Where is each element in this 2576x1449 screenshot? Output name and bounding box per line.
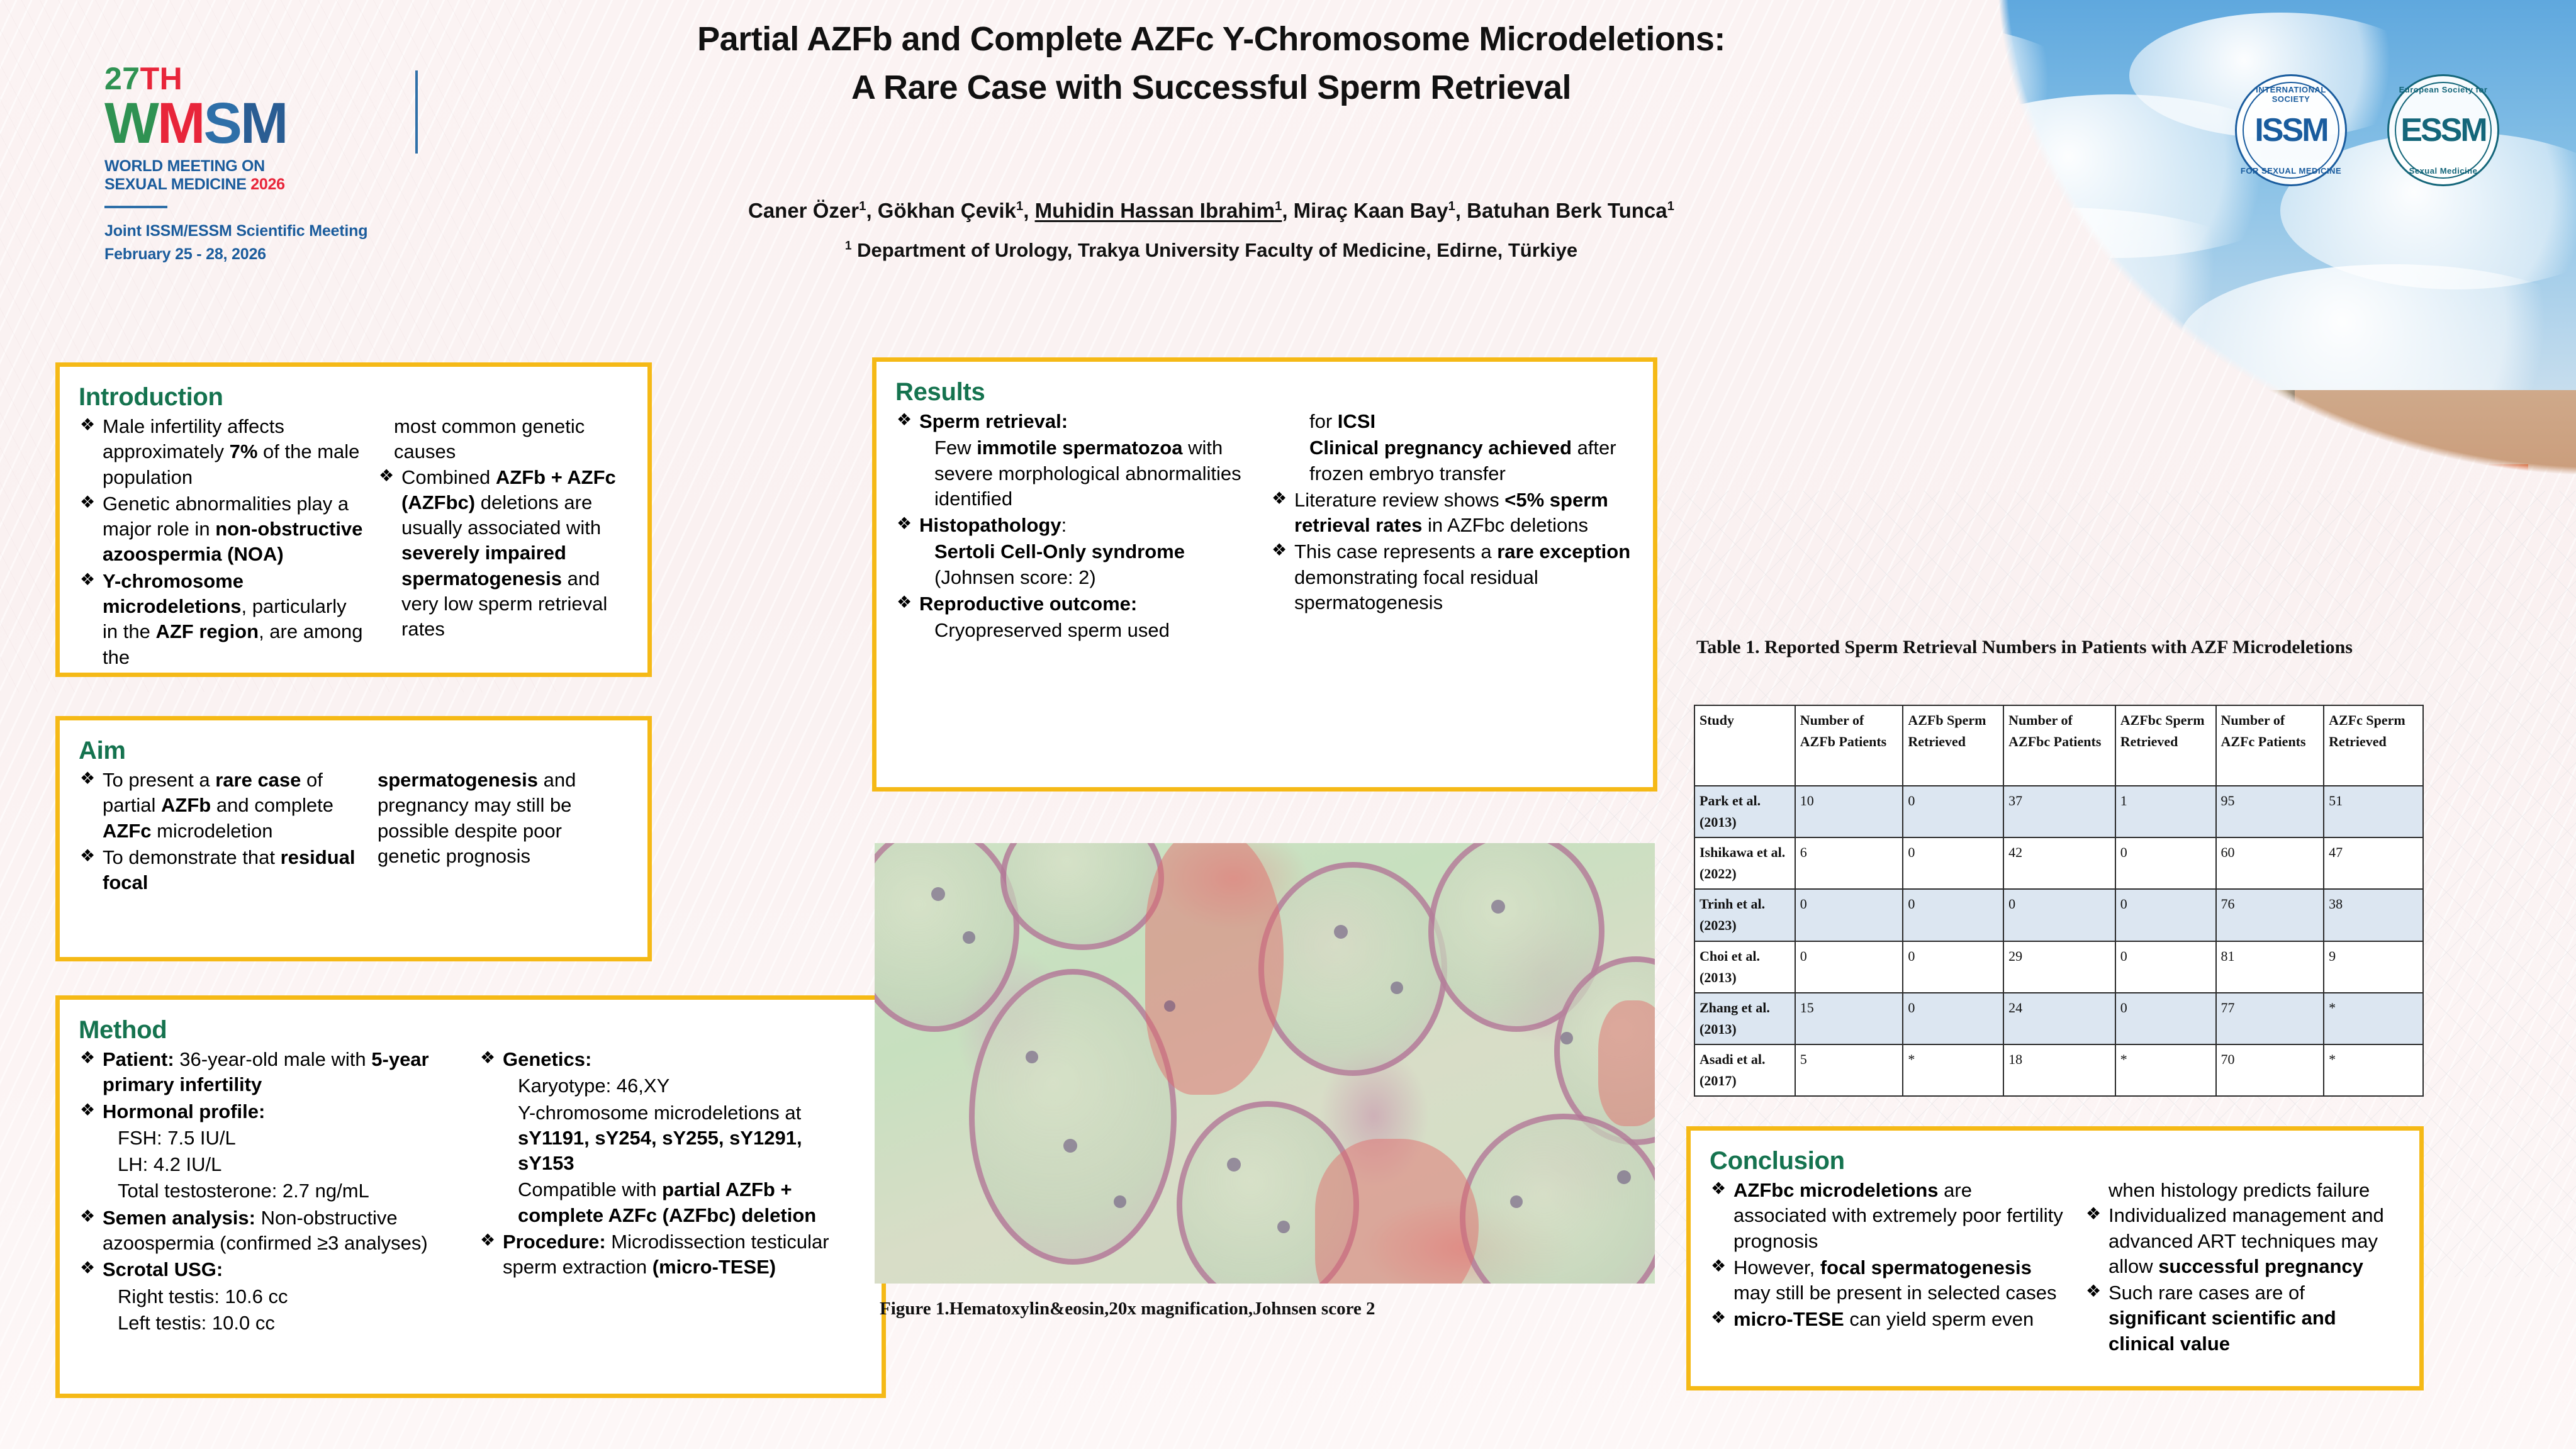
joint-meeting-label: Joint ISSM/ESSM Scientific Meeting bbox=[104, 220, 400, 242]
list-item: Semen analysis: Non-obstructive azoosper… bbox=[79, 1206, 462, 1256]
list-item: Combined AZFb + AZFc (AZFbc) deletions a… bbox=[378, 465, 629, 642]
logo-acronym: WMSM bbox=[104, 96, 400, 151]
results-left-column: Sperm retrieval:Few immotile spermatozoa… bbox=[895, 409, 1254, 645]
list-item: Genetics: bbox=[479, 1047, 863, 1072]
sperm-retrieval-table: StudyNumber of AZFb PatientsAZFb Sperm R… bbox=[1694, 705, 2424, 1097]
table-cell: 0 bbox=[1903, 993, 2003, 1044]
table-column-header: Number of AZFc Patients bbox=[2216, 705, 2324, 786]
method-right-list: Genetics:Karyotype: 46,XYY-chromosome mi… bbox=[479, 1047, 863, 1280]
table-row: Choi et al. (2013)00290819 bbox=[1694, 941, 2423, 993]
poster-title-line2: A Rare Case with Successful Sperm Retrie… bbox=[566, 64, 1856, 112]
table-cell: 76 bbox=[2216, 889, 2324, 941]
method-heading: Method bbox=[79, 1016, 863, 1044]
logo-subtitle: WORLD MEETING ON SEXUAL MEDICINE 2026 bbox=[104, 157, 400, 193]
table-column-header: Study bbox=[1694, 705, 1795, 786]
table-cell: Choi et al. (2013) bbox=[1694, 941, 1795, 993]
table-cell: Zhang et al. (2013) bbox=[1694, 993, 1795, 1044]
table-cell: Asadi et al. (2017) bbox=[1694, 1044, 1795, 1096]
table-cell: 70 bbox=[2216, 1044, 2324, 1096]
conclusion-left-column: AZFbc microdeletions are associated with… bbox=[1710, 1178, 2068, 1358]
introduction-section: Introduction Male infertility affects ap… bbox=[55, 362, 652, 677]
table-row: Zhang et al. (2013)15024077* bbox=[1694, 993, 2423, 1044]
table-cell: 0 bbox=[1903, 941, 2003, 993]
table-column-header: AZFb Sperm Retrieved bbox=[1903, 705, 2003, 786]
table-column-header: Number of AZFbc Patients bbox=[2003, 705, 2115, 786]
logo-meeting-info: Joint ISSM/ESSM Scientific Meeting Febru… bbox=[104, 220, 400, 266]
table-cell: * bbox=[2324, 993, 2423, 1044]
histology-figure bbox=[875, 843, 1655, 1284]
list-item: Compatible with partial AZFb + complete … bbox=[479, 1177, 863, 1228]
list-item: Individualized management and advanced A… bbox=[2085, 1203, 2400, 1279]
figure-caption: Figure 1.Hematoxylin&eosin,20x magnifica… bbox=[880, 1299, 1660, 1319]
table-cell: 6 bbox=[1795, 837, 1903, 889]
list-item: Cryopreserved sperm used bbox=[895, 618, 1254, 643]
essm-arc-bottom-text: Sexual Medicine bbox=[2389, 166, 2497, 176]
table-cell: 0 bbox=[1795, 889, 1903, 941]
introduction-right-list: Combined AZFb + AZFc (AZFbc) deletions a… bbox=[378, 465, 629, 642]
table-cell: 38 bbox=[2324, 889, 2423, 941]
aim-right-column: spermatogenesis and pregnancy may still … bbox=[378, 768, 629, 897]
table-cell: 77 bbox=[2216, 993, 2324, 1044]
introduction-right-column: most common genetic causes Combined AZFb… bbox=[378, 414, 629, 671]
list-item: Y-chromosome microdeletions at sY1191, s… bbox=[479, 1100, 863, 1177]
list-item: Literature review shows <5% sperm retrie… bbox=[1270, 488, 1634, 539]
table-row: Ishikawa et al. (2022)604206047 bbox=[1694, 837, 2423, 889]
table-cell: 0 bbox=[1903, 786, 2003, 837]
table-cell: 10 bbox=[1795, 786, 1903, 837]
table-cell: * bbox=[2115, 1044, 2216, 1096]
table-cell: 81 bbox=[2216, 941, 2324, 993]
table-row: Asadi et al. (2017)5*18*70* bbox=[1694, 1044, 2423, 1096]
conclusion-section: Conclusion AZFbc microdeletions are asso… bbox=[1686, 1126, 2424, 1390]
table-cell: 0 bbox=[1903, 837, 2003, 889]
results-right-list: for ICSIClinical pregnancy achieved afte… bbox=[1270, 409, 1634, 615]
list-item: Male infertility affects approximately 7… bbox=[79, 414, 365, 490]
list-item: To demonstrate that residual focal bbox=[79, 845, 365, 896]
table-cell: 5 bbox=[1795, 1044, 1903, 1096]
list-item: Sertoli Cell-Only syndrome (Johnsen scor… bbox=[895, 539, 1254, 590]
aim-left-column: To present a rare case of partial AZFb a… bbox=[79, 768, 365, 897]
author-list: Caner Özer1, Gökhan Çevik1, Muhidin Hass… bbox=[566, 200, 1856, 221]
poster-title-line1: Partial AZFb and Complete AZFc Y-Chromos… bbox=[566, 15, 1856, 64]
method-left-list: Patient: 36-year-old male with 5-year pr… bbox=[79, 1047, 462, 1336]
table-title: Table 1. Reported Sperm Retrieval Number… bbox=[1696, 635, 2357, 659]
table-cell: 95 bbox=[2216, 786, 2324, 837]
list-item: Total testosterone: 2.7 ng/mL bbox=[79, 1178, 462, 1204]
list-item: Left testis: 10.0 cc bbox=[79, 1311, 462, 1336]
poster-title: Partial AZFb and Complete AZFc Y-Chromos… bbox=[566, 15, 1856, 111]
introduction-heading: Introduction bbox=[79, 383, 629, 411]
list-item: Hormonal profile: bbox=[79, 1099, 462, 1124]
table-cell: 0 bbox=[1903, 889, 2003, 941]
list-item: AZFbc microdeletions are associated with… bbox=[1710, 1178, 2068, 1254]
table-cell: Park et al. (2013) bbox=[1694, 786, 1795, 837]
table-cell: 60 bbox=[2216, 837, 2324, 889]
results-left-list: Sperm retrieval:Few immotile spermatozoa… bbox=[895, 409, 1254, 644]
table-column-header: AZFbc Sperm Retrieved bbox=[2115, 705, 2216, 786]
list-item: Genetic abnormalities play a major role … bbox=[79, 491, 365, 568]
table-column-header: AZFc Sperm Retrieved bbox=[2324, 705, 2423, 786]
table-cell: 0 bbox=[2115, 837, 2216, 889]
list-item: Such rare cases are of significant scien… bbox=[2085, 1280, 2400, 1357]
conclusion-heading: Conclusion bbox=[1710, 1147, 2400, 1175]
table-cell: 0 bbox=[2115, 941, 2216, 993]
table-cell: * bbox=[2324, 1044, 2423, 1096]
list-item: Scrotal USG: bbox=[79, 1257, 462, 1282]
table-body: Park et al. (2013)1003719551Ishikawa et … bbox=[1694, 786, 2423, 1096]
list-item: micro-TESE can yield sperm even bbox=[1710, 1307, 2068, 1332]
issm-logo: INTERNATIONAL SOCIETY ISSM FOR SEXUAL ME… bbox=[2235, 74, 2347, 186]
method-section: Method Patient: 36-year-old male with 5-… bbox=[55, 995, 886, 1398]
list-item: for ICSI bbox=[1270, 409, 1634, 434]
list-item: Y-chromosome microdeletions, particularl… bbox=[79, 569, 365, 670]
results-right-column: for ICSIClinical pregnancy achieved afte… bbox=[1270, 409, 1634, 645]
introduction-left-column: Male infertility affects approximately 7… bbox=[79, 414, 365, 671]
logo-subtitle-line2: SEXUAL MEDICINE 2026 bbox=[104, 176, 400, 194]
table-cell: 0 bbox=[1795, 941, 1903, 993]
results-section: Results Sperm retrieval:Few immotile spe… bbox=[872, 357, 1657, 792]
aim-list: To present a rare case of partial AZFb a… bbox=[79, 768, 365, 895]
wmsm-conference-logo: 27TH WMSM WORLD MEETING ON SEXUAL MEDICI… bbox=[104, 63, 400, 266]
conclusion-continuation-text: when histology predicts failure bbox=[2085, 1178, 2400, 1203]
table-cell: 0 bbox=[2115, 889, 2216, 941]
list-item: To present a rare case of partial AZFb a… bbox=[79, 768, 365, 844]
meeting-dates-label: February 25 - 28, 2026 bbox=[104, 243, 400, 266]
essm-logo: European Society for ESSM Sexual Medicin… bbox=[2387, 74, 2499, 186]
table-cell: 0 bbox=[2115, 993, 2216, 1044]
list-item: LH: 4.2 IU/L bbox=[79, 1152, 462, 1177]
affiliation-line: 1 Department of Urology, Trakya Universi… bbox=[566, 239, 1856, 262]
table-cell: 1 bbox=[2115, 786, 2216, 837]
introduction-left-list: Male infertility affects approximately 7… bbox=[79, 414, 365, 670]
table-row: Trinh et al. (2023)00007638 bbox=[1694, 889, 2423, 941]
table-cell: Ishikawa et al. (2022) bbox=[1694, 837, 1795, 889]
aim-section: Aim To present a rare case of partial AZ… bbox=[55, 716, 652, 961]
table-cell: 42 bbox=[2003, 837, 2115, 889]
logo-subtitle-line1: WORLD MEETING ON bbox=[104, 157, 400, 176]
table-row: Park et al. (2013)1003719551 bbox=[1694, 786, 2423, 837]
table-cell: 15 bbox=[1795, 993, 1903, 1044]
table-cell: 24 bbox=[2003, 993, 2115, 1044]
list-item: Karyotype: 46,XY bbox=[479, 1073, 863, 1099]
issm-arc-bottom-text: FOR SEXUAL MEDICINE bbox=[2237, 166, 2345, 176]
list-item: Histopathology: bbox=[895, 513, 1254, 538]
list-item: This case represents a rare exception de… bbox=[1270, 539, 1634, 615]
list-item: Sperm retrieval: bbox=[895, 409, 1254, 434]
list-item: Clinical pregnancy achieved after frozen… bbox=[1270, 435, 1634, 486]
conclusion-right-list: Individualized management and advanced A… bbox=[2085, 1203, 2400, 1357]
aim-continuation-text: spermatogenesis and pregnancy may still … bbox=[378, 768, 629, 869]
list-item: Procedure: Microdissection testicular sp… bbox=[479, 1229, 863, 1280]
table-cell: 29 bbox=[2003, 941, 2115, 993]
table-cell: 51 bbox=[2324, 786, 2423, 837]
method-right-column: Genetics:Karyotype: 46,XYY-chromosome mi… bbox=[479, 1047, 863, 1337]
table-cell: 47 bbox=[2324, 837, 2423, 889]
aim-heading: Aim bbox=[79, 737, 629, 765]
logo-divider-rule bbox=[104, 206, 167, 208]
logo-vertical-divider bbox=[415, 70, 418, 154]
list-item: FSH: 7.5 IU/L bbox=[79, 1126, 462, 1151]
table-cell: 18 bbox=[2003, 1044, 2115, 1096]
conclusion-right-column: when histology predicts failure Individu… bbox=[2085, 1178, 2400, 1358]
method-left-column: Patient: 36-year-old male with 5-year pr… bbox=[79, 1047, 462, 1337]
list-item: Reproductive outcome: bbox=[895, 591, 1254, 617]
table-header-row: StudyNumber of AZFb PatientsAZFb Sperm R… bbox=[1694, 705, 2423, 786]
list-item: However, focal spermatogenesis may still… bbox=[1710, 1255, 2068, 1306]
introduction-continuation-text: most common genetic causes bbox=[378, 414, 629, 465]
histology-micrograph-image bbox=[875, 843, 1655, 1284]
list-item: Few immotile spermatozoa with severe mor… bbox=[895, 435, 1254, 512]
table-cell: Trinh et al. (2023) bbox=[1694, 889, 1795, 941]
list-item: Patient: 36-year-old male with 5-year pr… bbox=[79, 1047, 462, 1098]
conclusion-left-list: AZFbc microdeletions are associated with… bbox=[1710, 1178, 2068, 1333]
table-cell: 0 bbox=[2003, 889, 2115, 941]
list-item: Right testis: 10.6 cc bbox=[79, 1284, 462, 1309]
logo-ordinal: 27TH bbox=[104, 63, 400, 94]
table-column-header: Number of AZFb Patients bbox=[1795, 705, 1903, 786]
table-cell: * bbox=[1903, 1044, 2003, 1096]
table-cell: 9 bbox=[2324, 941, 2423, 993]
results-heading: Results bbox=[895, 378, 1634, 406]
table-cell: 37 bbox=[2003, 786, 2115, 837]
